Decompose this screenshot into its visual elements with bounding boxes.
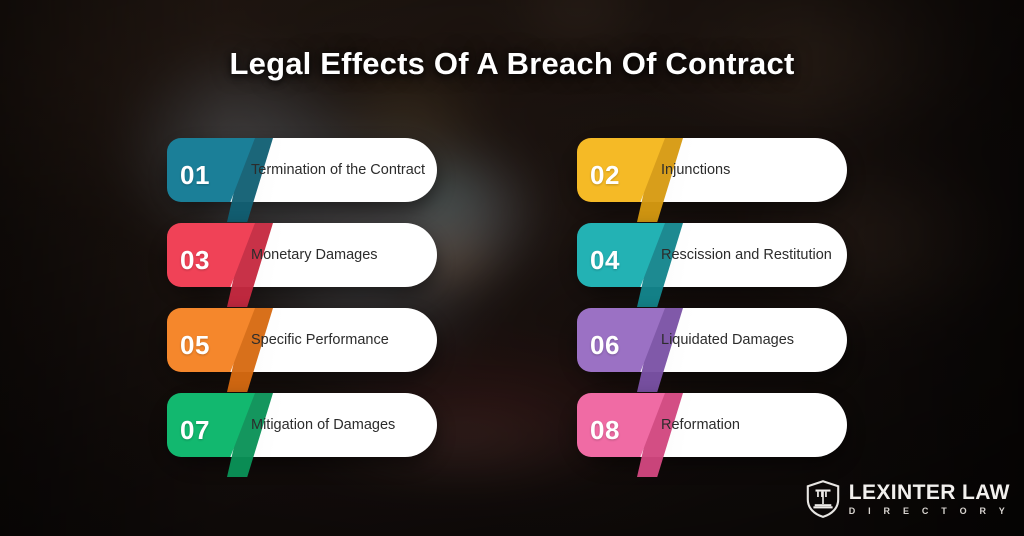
card-label: Injunctions xyxy=(661,138,843,202)
logo-text: LEXINTER LAW D I R E C T O R Y xyxy=(849,482,1010,516)
card-number: 07 xyxy=(180,415,210,446)
card-label: Rescission and Restitution xyxy=(661,223,843,287)
logo-name: LEXINTER LAW xyxy=(849,482,1010,503)
card-grid: 01Termination of the Contract02Injunctio… xyxy=(167,138,867,457)
effect-card[interactable]: 04Rescission and Restitution xyxy=(577,223,847,287)
card-number: 08 xyxy=(590,415,620,446)
effect-card[interactable]: 02Injunctions xyxy=(577,138,847,202)
card-label: Mitigation of Damages xyxy=(251,393,433,457)
card-number: 04 xyxy=(590,245,620,276)
card-number: 02 xyxy=(590,160,620,191)
logo-tagline: D I R E C T O R Y xyxy=(849,506,1010,516)
effect-card[interactable]: 08Reformation xyxy=(577,393,847,457)
page-title: Legal Effects Of A Breach Of Contract xyxy=(0,46,1024,82)
effect-card[interactable]: 06Liquidated Damages xyxy=(577,308,847,372)
card-label: Reformation xyxy=(661,393,843,457)
effect-card[interactable]: 07Mitigation of Damages xyxy=(167,393,437,457)
scales-of-justice-shield-icon xyxy=(806,480,840,518)
card-label: Liquidated Damages xyxy=(661,308,843,372)
card-number: 01 xyxy=(180,160,210,191)
card-number: 05 xyxy=(180,330,210,361)
card-number: 03 xyxy=(180,245,210,276)
effect-card[interactable]: 03Monetary Damages xyxy=(167,223,437,287)
card-label: Monetary Damages xyxy=(251,223,433,287)
effect-card[interactable]: 01Termination of the Contract xyxy=(167,138,437,202)
card-label: Specific Performance xyxy=(251,308,433,372)
effect-card[interactable]: 05Specific Performance xyxy=(167,308,437,372)
card-label: Termination of the Contract xyxy=(251,138,433,202)
card-number: 06 xyxy=(590,330,620,361)
brand-logo[interactable]: LEXINTER LAW D I R E C T O R Y xyxy=(806,480,1010,518)
